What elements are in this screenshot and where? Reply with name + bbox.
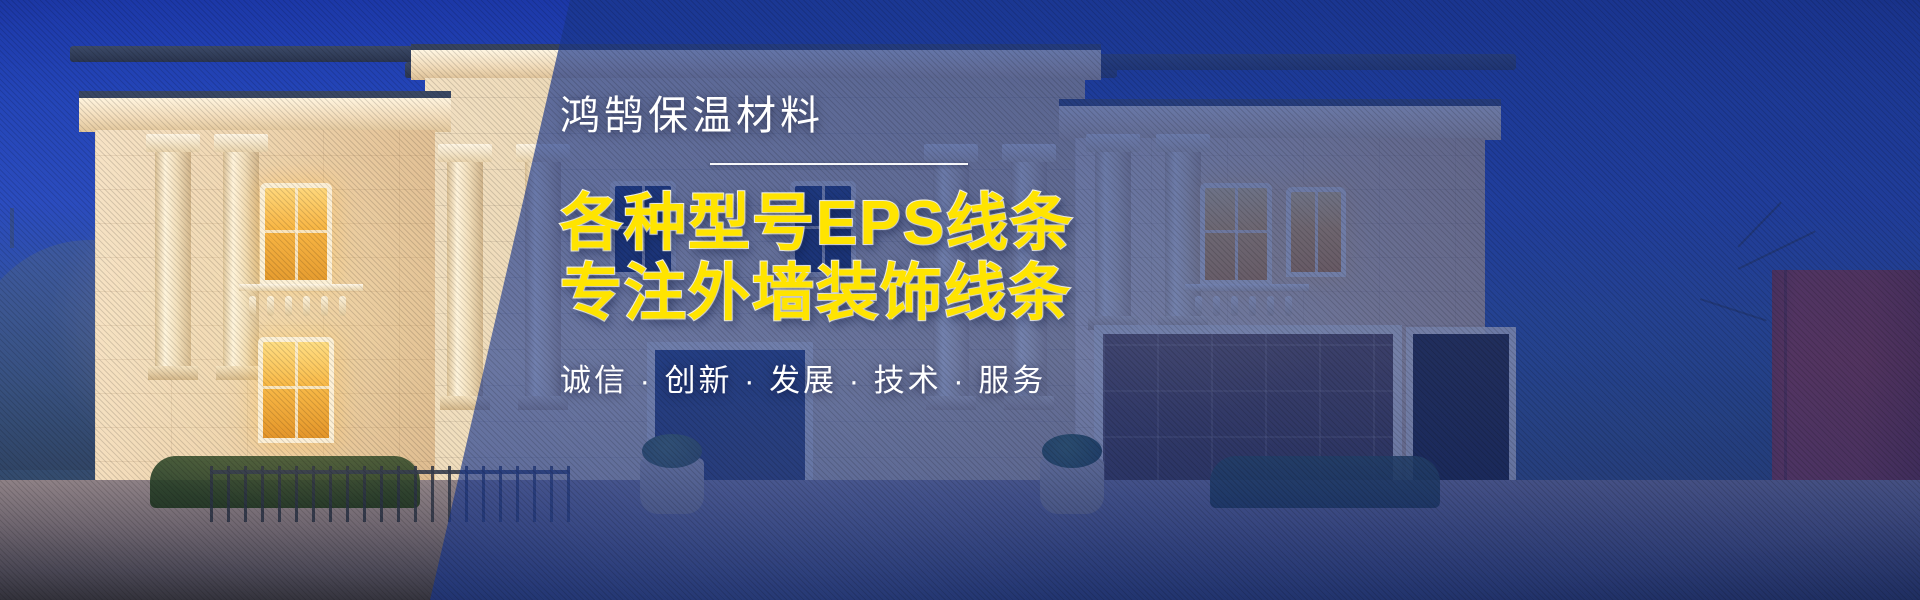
- hedge-right: [1210, 456, 1440, 508]
- column-5: [155, 150, 191, 380]
- tagline: 诚信 · 创新 · 发展 · 技术 · 服务: [560, 365, 1280, 396]
- iron-railing: [210, 466, 570, 522]
- planter-left: [640, 458, 704, 514]
- window-upper-right-2: [1291, 192, 1341, 272]
- title-divider: [710, 163, 968, 165]
- window-upper-left: [265, 188, 327, 280]
- headline-line-2: 专注外墙装饰线条: [560, 259, 1280, 329]
- red-wall-panel: [1772, 270, 1920, 505]
- planter-right: [1040, 458, 1104, 514]
- hero-banner: 鸿鹄保温材料 各种型号EPS线条 专注外墙装饰线条 诚信 · 创新 · 发展 ·…: [0, 0, 1920, 600]
- brand-name: 鸿鹄保温材料: [560, 96, 1280, 136]
- balustrade-left: [245, 290, 357, 316]
- headline-block: 各种型号EPS线条 专注外墙装饰线条: [560, 189, 1280, 329]
- window-lower-left: [263, 342, 329, 438]
- cornice-center: [411, 50, 1101, 80]
- banner-content: 鸿鹄保温材料 各种型号EPS线条 专注外墙装饰线条 诚信 · 创新 · 发展 ·…: [560, 96, 1280, 396]
- cornice-left: [79, 98, 451, 132]
- column-1: [447, 160, 483, 410]
- headline-line-1: 各种型号EPS线条: [560, 189, 1280, 259]
- column-2: [525, 160, 561, 410]
- column-6: [223, 150, 259, 380]
